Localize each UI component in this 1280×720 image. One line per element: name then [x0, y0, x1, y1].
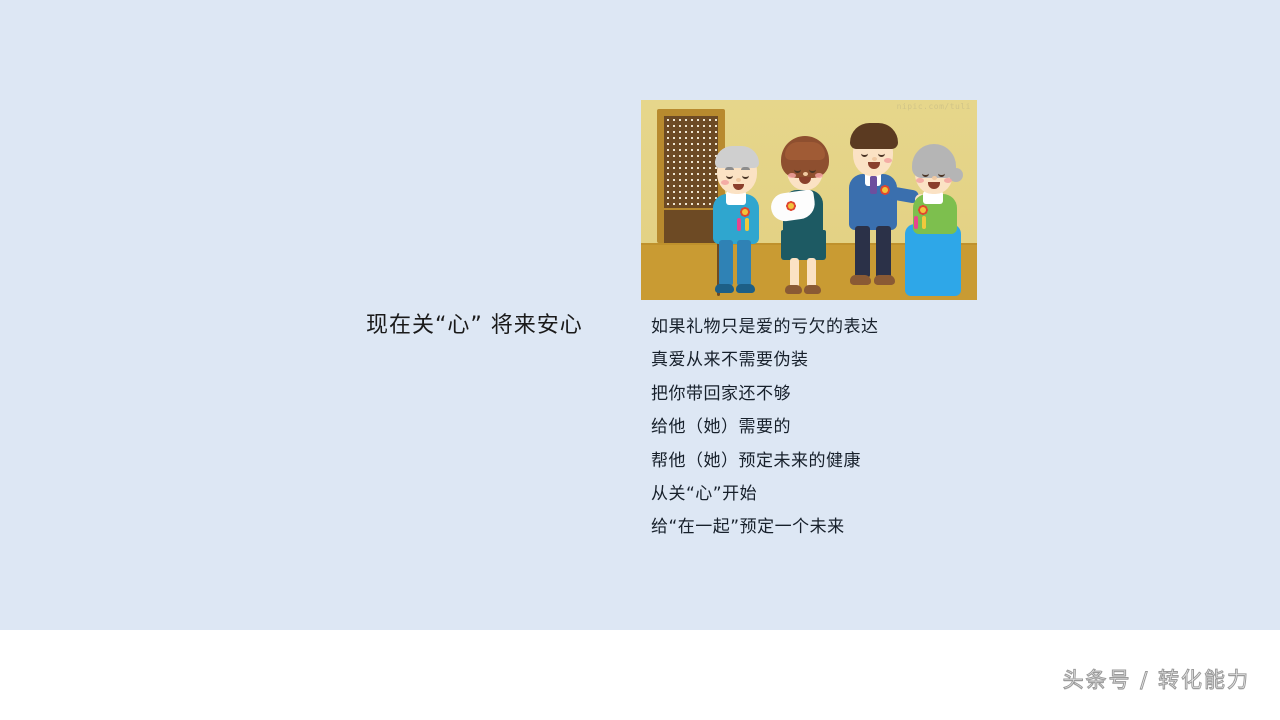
- adult-woman-leg-right: [807, 258, 816, 288]
- adult-woman-hair-front: [785, 142, 825, 160]
- elderly-man-brow-left: [725, 167, 734, 170]
- elderly-woman-cheek-left: [916, 178, 924, 183]
- page-title: 现在关“心” 将来安心: [366, 307, 583, 339]
- adult-man-shoe-left: [850, 275, 871, 285]
- adult-woman-nose: [803, 172, 808, 176]
- slide-root: nipic.com/tuli 现在关“心” 将来安心 如果礼物只是爱的亏欠的表达…: [0, 0, 1280, 720]
- adult-woman-corsage: [781, 196, 800, 215]
- illustration-watermark: nipic.com/tuli: [897, 102, 971, 111]
- adult-man-leg-right: [876, 226, 891, 278]
- adult-man-corsage: [875, 180, 894, 199]
- body-line: 从关“心”开始: [651, 478, 879, 511]
- elderly-woman-cheek-right: [944, 178, 952, 183]
- adult-woman-skirt: [781, 230, 826, 260]
- figure-elderly-man: [703, 136, 773, 300]
- adult-woman-cheek-left: [788, 173, 796, 178]
- adult-woman-leg-left: [790, 258, 799, 288]
- slide-canvas: nipic.com/tuli 现在关“心” 将来安心 如果礼物只是爱的亏欠的表达…: [0, 0, 1280, 630]
- adult-man-hair: [850, 123, 898, 149]
- body-line: 如果礼物只是爱的亏欠的表达: [651, 311, 879, 344]
- body-line: 真爱从来不需要伪装: [651, 344, 879, 377]
- footer-bar: 头条号 / 转化能力: [0, 630, 1280, 720]
- elderly-man-brow-right: [741, 167, 750, 170]
- footer-brand: 头条号 / 转化能力: [1063, 664, 1250, 694]
- body-line: 把你带回家还不够: [651, 378, 879, 411]
- elderly-woman-nose: [932, 176, 937, 180]
- adult-man-leg-left: [855, 226, 870, 278]
- body-line: 给他（她）需要的: [651, 411, 879, 444]
- elderly-woman-ribbon-yellow: [922, 216, 926, 229]
- figure-adult-woman: [769, 124, 839, 300]
- elderly-man-ribbon-pink: [737, 218, 741, 231]
- elderly-woman-skirt: [905, 224, 961, 296]
- elderly-man-cheek: [721, 180, 729, 185]
- family-illustration: nipic.com/tuli: [641, 100, 977, 300]
- elderly-man-ribbon-yellow: [745, 218, 749, 231]
- figure-elderly-woman: [899, 138, 973, 300]
- elderly-man-shoe-left: [715, 284, 734, 293]
- elderly-woman-ribbon-pink: [914, 216, 918, 229]
- body-copy: 如果礼物只是爱的亏欠的表达 真爱从来不需要伪装 把你带回家还不够 给他（她）需要…: [651, 311, 879, 545]
- adult-man-cheek: [884, 158, 892, 163]
- adult-woman-shoe-right: [804, 285, 821, 294]
- body-line: 帮他（她）预定未来的健康: [651, 445, 879, 478]
- elderly-man-leg-right: [737, 240, 751, 286]
- elderly-man-leg-left: [719, 240, 733, 286]
- elderly-man-nose: [736, 178, 741, 182]
- elderly-man-hair: [715, 146, 759, 168]
- adult-man-nose: [872, 157, 877, 161]
- adult-man-shoe-right: [874, 275, 895, 285]
- body-line: 给“在一起”预定一个未来: [651, 511, 879, 544]
- adult-woman-cheek-right: [815, 173, 823, 178]
- elderly-man-shoe-right: [736, 284, 755, 293]
- adult-woman-shoe-left: [785, 285, 802, 294]
